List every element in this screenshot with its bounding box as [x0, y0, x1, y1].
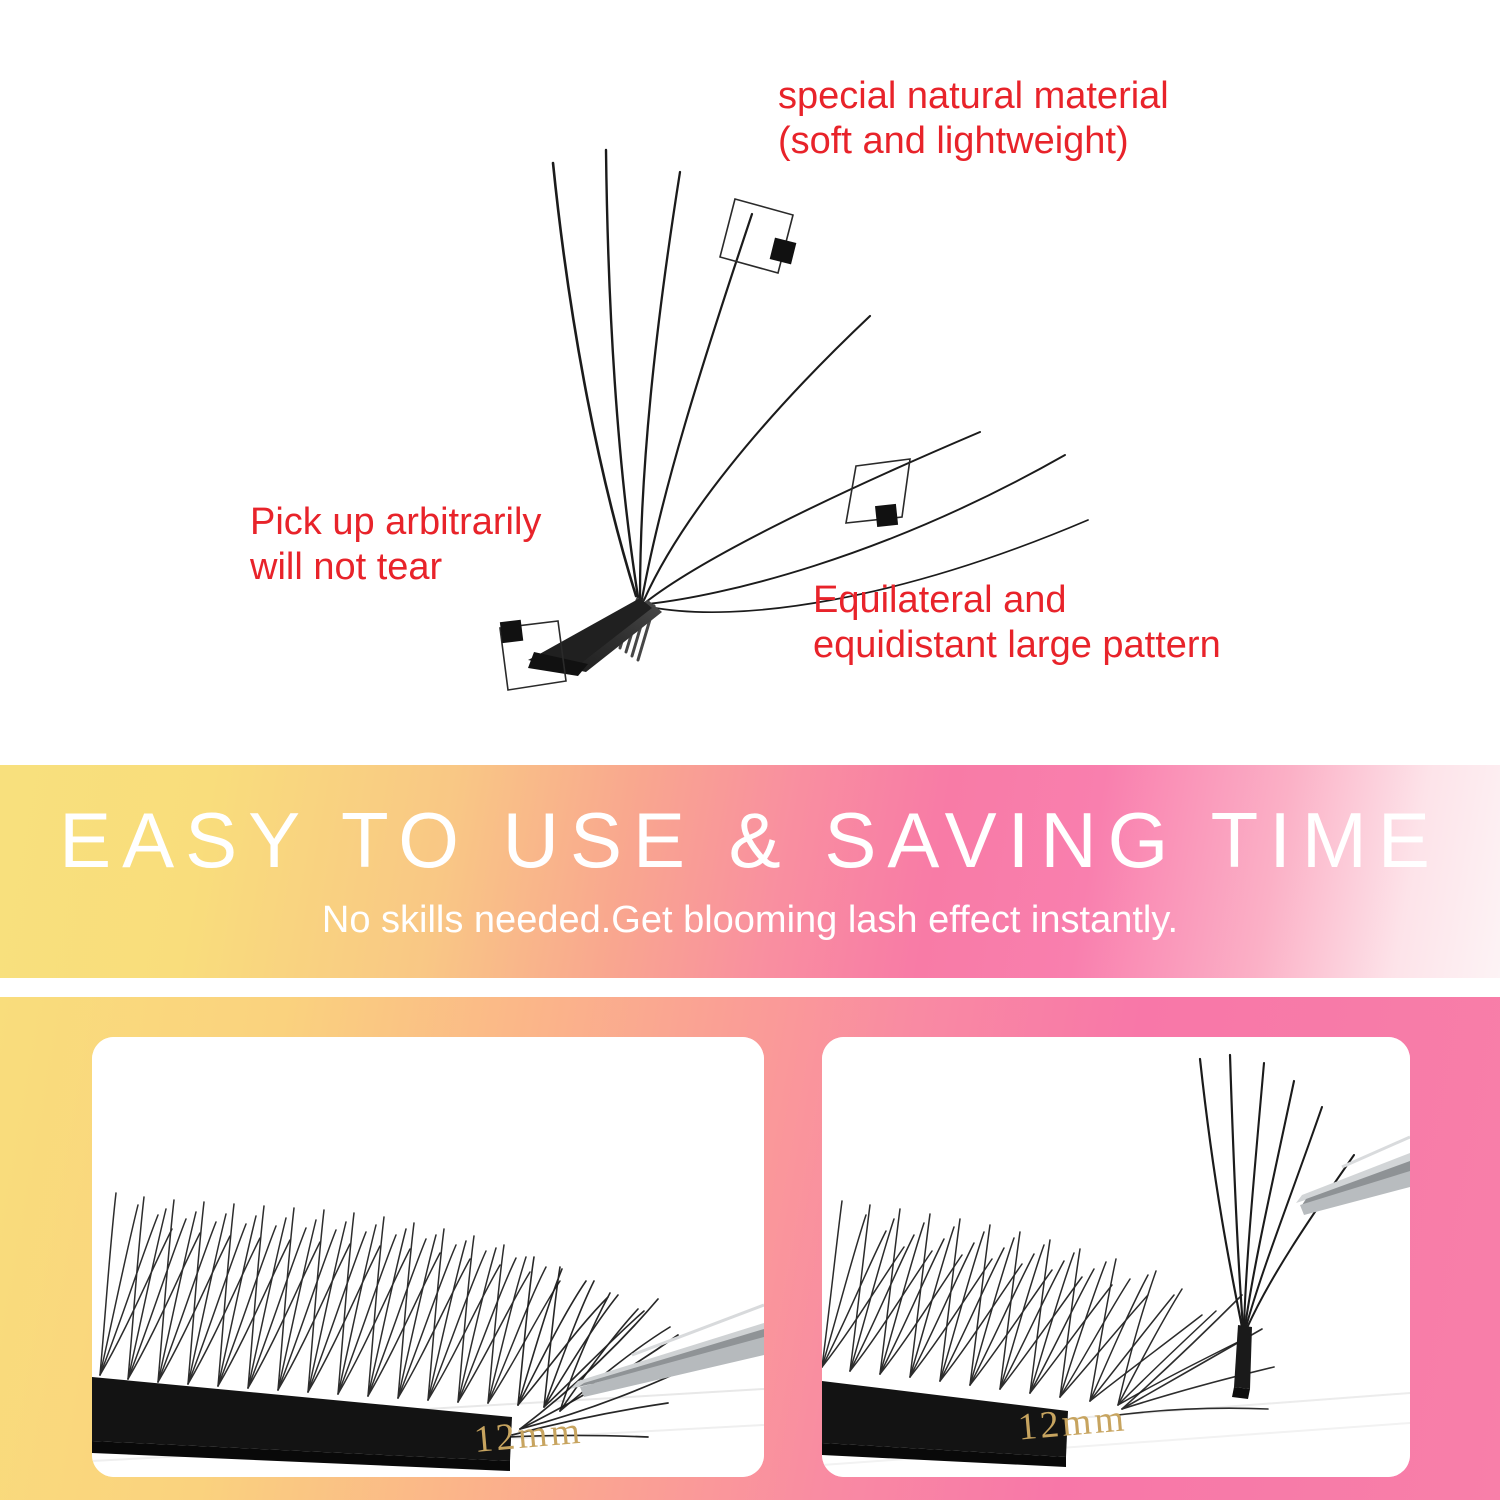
callout-marker-middle — [846, 459, 910, 527]
product-feature-page: special natural material (soft and light… — [0, 0, 1500, 1500]
top-illustration-section: special natural material (soft and light… — [0, 0, 1500, 765]
lash-fan-diagram — [0, 0, 1500, 765]
photo-right-graphic: 12mm — [822, 1037, 1410, 1477]
photo-single-fan-lifted: 12mm — [822, 1037, 1410, 1477]
annotation-equilateral: Equilateral and equidistant large patter… — [813, 578, 1221, 668]
lash-filaments — [553, 150, 1088, 612]
callout-marker-top — [720, 199, 796, 273]
banner-subtitle: No skills needed.Get blooming lash effec… — [0, 901, 1500, 939]
headline-banner: EASY TO USE & SAVING TIME No skills need… — [0, 765, 1500, 978]
photo-left-graphic: 12mm — [92, 1037, 764, 1477]
annotation-pick-up: Pick up arbitrarily will not tear — [250, 500, 541, 590]
banner-title: EASY TO USE & SAVING TIME — [0, 801, 1500, 879]
photo-lash-tray-with-tweezers: 12mm — [92, 1037, 764, 1477]
annotation-special-material: special natural material (soft and light… — [778, 74, 1169, 164]
lash-base-stem — [528, 598, 662, 676]
